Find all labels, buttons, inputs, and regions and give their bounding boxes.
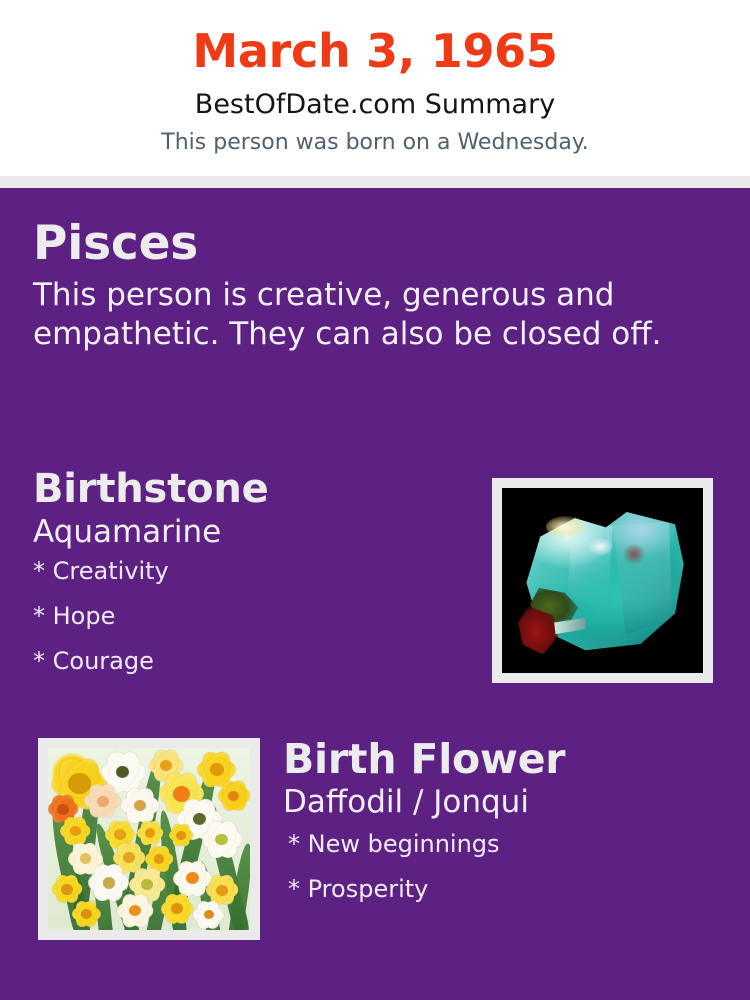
flower-corona — [141, 879, 153, 890]
birthstone-name: Aquamarine — [33, 511, 463, 549]
birth-flower-name: Daffodil / Jonqui — [283, 781, 723, 819]
list-item: * Creativity — [33, 559, 463, 604]
birth-flower-text: Birth Flower Daffodil / Jonqui * New beg… — [283, 738, 723, 922]
zodiac-description: This person is creative, generous and em… — [33, 267, 705, 355]
daffodil-bloom — [121, 788, 159, 823]
date-summary-card: March 3, 1965 BestOfDate.com Summary Thi… — [0, 0, 750, 1000]
flower-corona — [57, 804, 69, 815]
page-title: March 3, 1965 — [0, 0, 750, 74]
content-panel: Pisces This person is creative, generous… — [0, 188, 750, 1000]
birthstone-image — [502, 488, 703, 673]
card-header: March 3, 1965 BestOfDate.com Summary Thi… — [0, 0, 750, 176]
flower-corona — [210, 763, 224, 776]
list-item: * New beginnings — [288, 832, 723, 877]
flower-corona — [103, 877, 115, 888]
header-divider — [0, 176, 750, 188]
flower-corona — [80, 853, 92, 864]
site-subtitle: BestOfDate.com Summary — [0, 74, 750, 118]
daffodil-bloom — [60, 817, 90, 845]
flower-corona — [129, 905, 141, 916]
birthstone-trait-list: * Creativity * Hope * Courage — [33, 549, 463, 694]
birth-flower-image — [48, 748, 250, 930]
flower-corona — [228, 791, 239, 801]
flower-corona — [123, 852, 135, 863]
flower-corona — [204, 910, 214, 919]
birth-flower-image-frame — [38, 738, 260, 940]
daffodil-bloom — [202, 821, 242, 858]
flower-corona — [61, 884, 73, 895]
daffodil-bloom — [137, 821, 163, 845]
list-item: * Hope — [33, 604, 463, 649]
zodiac-block: Pisces This person is creative, generous… — [33, 220, 713, 355]
gem-highlight-yellow — [546, 516, 586, 538]
flower-corona — [160, 760, 172, 771]
flower-corona — [97, 796, 109, 807]
daffodil-bloom — [72, 901, 100, 927]
daffodil-bloom — [117, 894, 153, 927]
birth-flower-heading: Birth Flower — [283, 738, 723, 781]
zodiac-sign-name: Pisces — [33, 220, 713, 267]
list-item: * Prosperity — [288, 877, 723, 922]
flower-corona — [81, 909, 92, 919]
birthstone-text: Birthstone Aquamarine * Creativity * Hop… — [33, 468, 463, 694]
daffodil-cluster-icon — [48, 748, 250, 930]
daffodil-bloom — [84, 784, 120, 817]
gem-facet-right — [613, 521, 672, 635]
gem-highlight-white — [588, 538, 612, 555]
flower-corona — [145, 828, 156, 838]
flower-corona — [216, 885, 228, 896]
daffodil-bloom — [193, 901, 223, 929]
daffodil-bloom — [161, 894, 193, 924]
birth-flower-trait-list: * New beginnings * Prosperity — [283, 820, 723, 922]
flower-corona — [114, 829, 126, 840]
flower-corona — [215, 834, 228, 846]
list-item: * Courage — [33, 649, 463, 694]
birthstone-heading: Birthstone — [33, 468, 463, 511]
birthstone-image-frame — [492, 478, 713, 683]
birth-day-note: This person was born on a Wednesday. — [0, 118, 750, 154]
daffodil-bloom — [169, 824, 193, 846]
daffodil-bloom — [218, 781, 250, 811]
gem-inclusion-red-small — [623, 544, 645, 564]
